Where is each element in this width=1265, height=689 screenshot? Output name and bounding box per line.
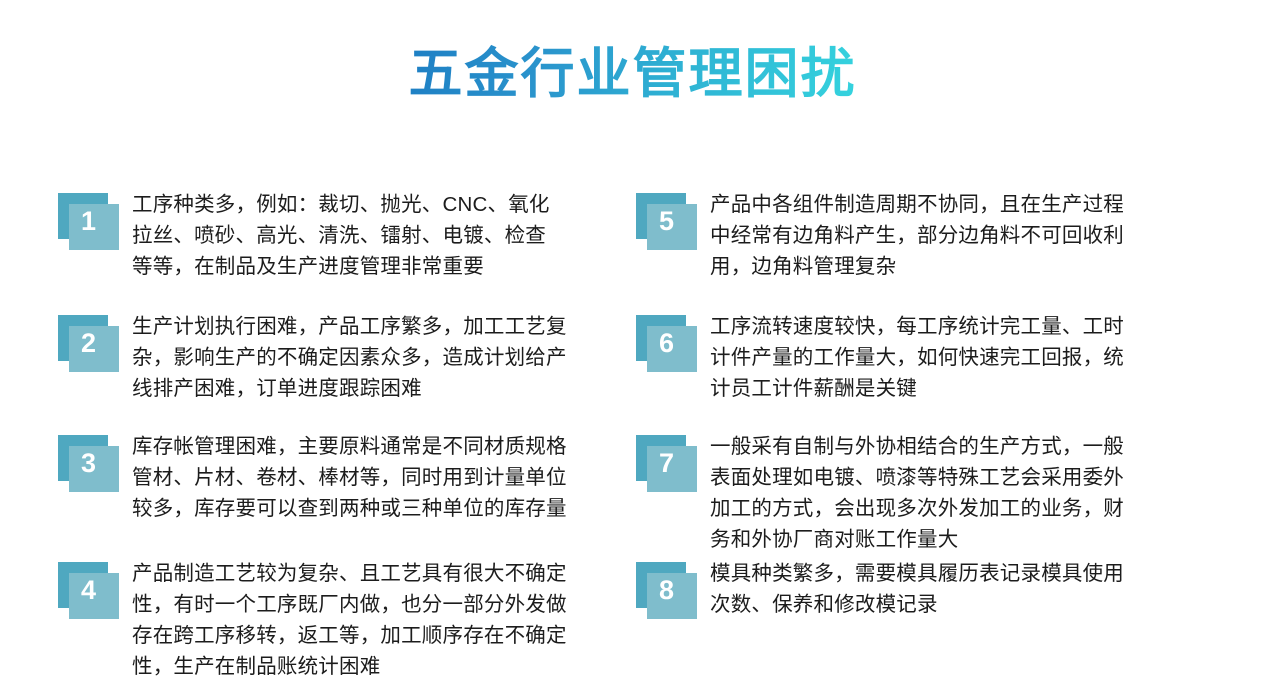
list-item: 4 产品制造工艺较为复杂、且工艺具有很大不确定 性，有时一个工序既厂内做，也分一…	[58, 554, 622, 681]
list-item: 6 工序流转速度较快，每工序统计完工量、工时 计件产量的工作量大，如何快速完工回…	[636, 307, 1255, 427]
item-text: 模具种类繁多，需要模具履历表记录模具使用 次数、保养和修改模记录	[710, 554, 1192, 620]
item-text: 工序种类多，例如：裁切、抛光、CNC、氧化 拉丝、喷砂、高光、清洗、镭射、电镀、…	[132, 185, 622, 282]
item-text: 一般采有自制与外协相结合的生产方式，一般 表面处理如电镀、喷漆等特殊工艺会采用委…	[710, 427, 1192, 555]
badge-number: 5	[636, 193, 697, 250]
item-text: 工序流转速度较快，每工序统计完工量、工时 计件产量的工作量大，如何快速完工回报，…	[710, 307, 1192, 404]
item-text: 产品制造工艺较为复杂、且工艺具有很大不确定 性，有时一个工序既厂内做，也分一部分…	[132, 554, 622, 682]
number-badge-2: 2	[58, 315, 124, 377]
badge-number: 8	[636, 562, 697, 619]
badge-number: 1	[58, 193, 119, 250]
page-title: 五金行业管理困扰	[409, 44, 857, 104]
list-item: 7 一般采有自制与外协相结合的生产方式，一般 表面处理如电镀、喷漆等特殊工艺会采…	[636, 427, 1255, 554]
number-badge-3: 3	[58, 435, 124, 497]
list-item: 2 生产计划执行困难，产品工序繁多，加工工艺复 杂，影响生产的不确定因素众多，造…	[58, 307, 622, 427]
list-item: 5 产品中各组件制造周期不协同，且在生产过程 中经常有边角料产生，部分边角料不可…	[636, 185, 1255, 307]
badge-number: 2	[58, 315, 119, 372]
badge-number: 6	[636, 315, 697, 372]
badge-number: 7	[636, 435, 697, 492]
number-badge-5: 5	[636, 193, 702, 255]
number-badge-8: 8	[636, 562, 702, 624]
slide-root: 五金行业管理困扰 1 工序种类多，例如：裁切、抛光、CNC、氧化 拉丝、喷砂、高…	[0, 0, 1265, 689]
badge-number: 4	[58, 562, 119, 619]
list-item: 1 工序种类多，例如：裁切、抛光、CNC、氧化 拉丝、喷砂、高光、清洗、镭射、电…	[58, 185, 622, 307]
content-columns: 1 工序种类多，例如：裁切、抛光、CNC、氧化 拉丝、喷砂、高光、清洗、镭射、电…	[0, 185, 1265, 681]
title-container: 五金行业管理困扰	[0, 44, 1265, 104]
item-text: 产品中各组件制造周期不协同，且在生产过程 中经常有边角料产生，部分边角料不可回收…	[710, 185, 1192, 282]
list-item: 8 模具种类繁多，需要模具履历表记录模具使用 次数、保养和修改模记录	[636, 554, 1255, 681]
number-badge-1: 1	[58, 193, 124, 255]
number-badge-6: 6	[636, 315, 702, 377]
left-column: 1 工序种类多，例如：裁切、抛光、CNC、氧化 拉丝、喷砂、高光、清洗、镭射、电…	[0, 185, 632, 681]
number-badge-7: 7	[636, 435, 702, 497]
list-item: 3 库存帐管理困难，主要原料通常是不同材质规格 管材、片材、卷材、棒材等，同时用…	[58, 427, 622, 554]
badge-number: 3	[58, 435, 119, 492]
item-text: 库存帐管理困难，主要原料通常是不同材质规格 管材、片材、卷材、棒材等，同时用到计…	[132, 427, 622, 524]
right-column: 5 产品中各组件制造周期不协同，且在生产过程 中经常有边角料产生，部分边角料不可…	[632, 185, 1265, 681]
item-text: 生产计划执行困难，产品工序繁多，加工工艺复 杂，影响生产的不确定因素众多，造成计…	[132, 307, 622, 404]
number-badge-4: 4	[58, 562, 124, 624]
